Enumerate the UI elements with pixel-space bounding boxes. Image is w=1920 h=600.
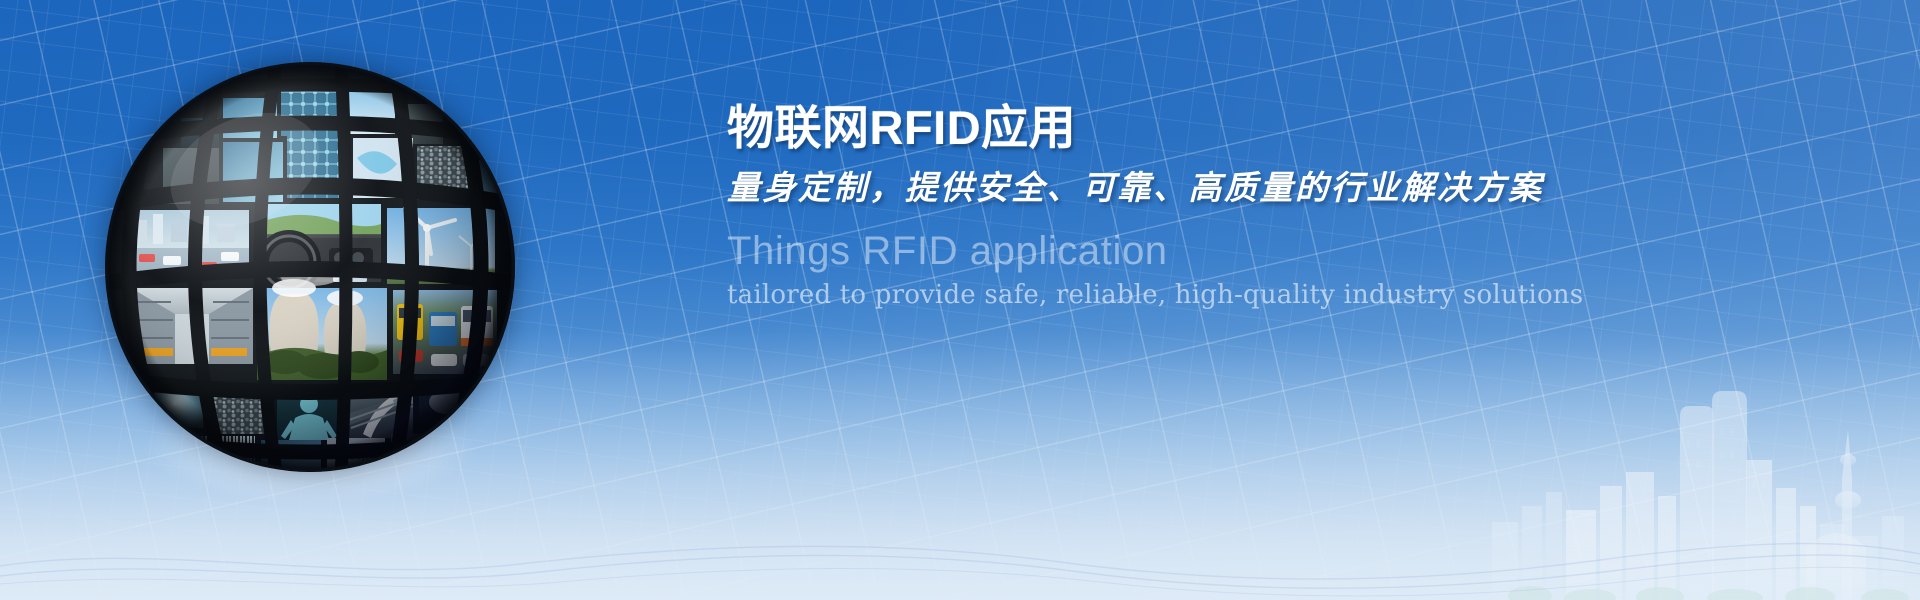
english-tagline: tailored to provide safe, reliable, high… [727, 280, 1857, 311]
english-title: Things RFID application [727, 228, 1857, 274]
page-title: 物联网RFID应用 [727, 100, 1857, 155]
banner-copy: 物联网RFID应用 量身定制，提供安全、可靠、高质量的行业解决方案 Things… [727, 100, 1857, 311]
globe-tile-mosaic: Help [105, 62, 515, 472]
page-subtitle: 量身定制，提供安全、可靠、高质量的行业解决方案 [727, 168, 1857, 208]
rfid-hero-banner: Help [0, 0, 1920, 600]
rfid-industry-globe: Help [105, 62, 515, 472]
globe-sphere: Help [105, 62, 515, 472]
